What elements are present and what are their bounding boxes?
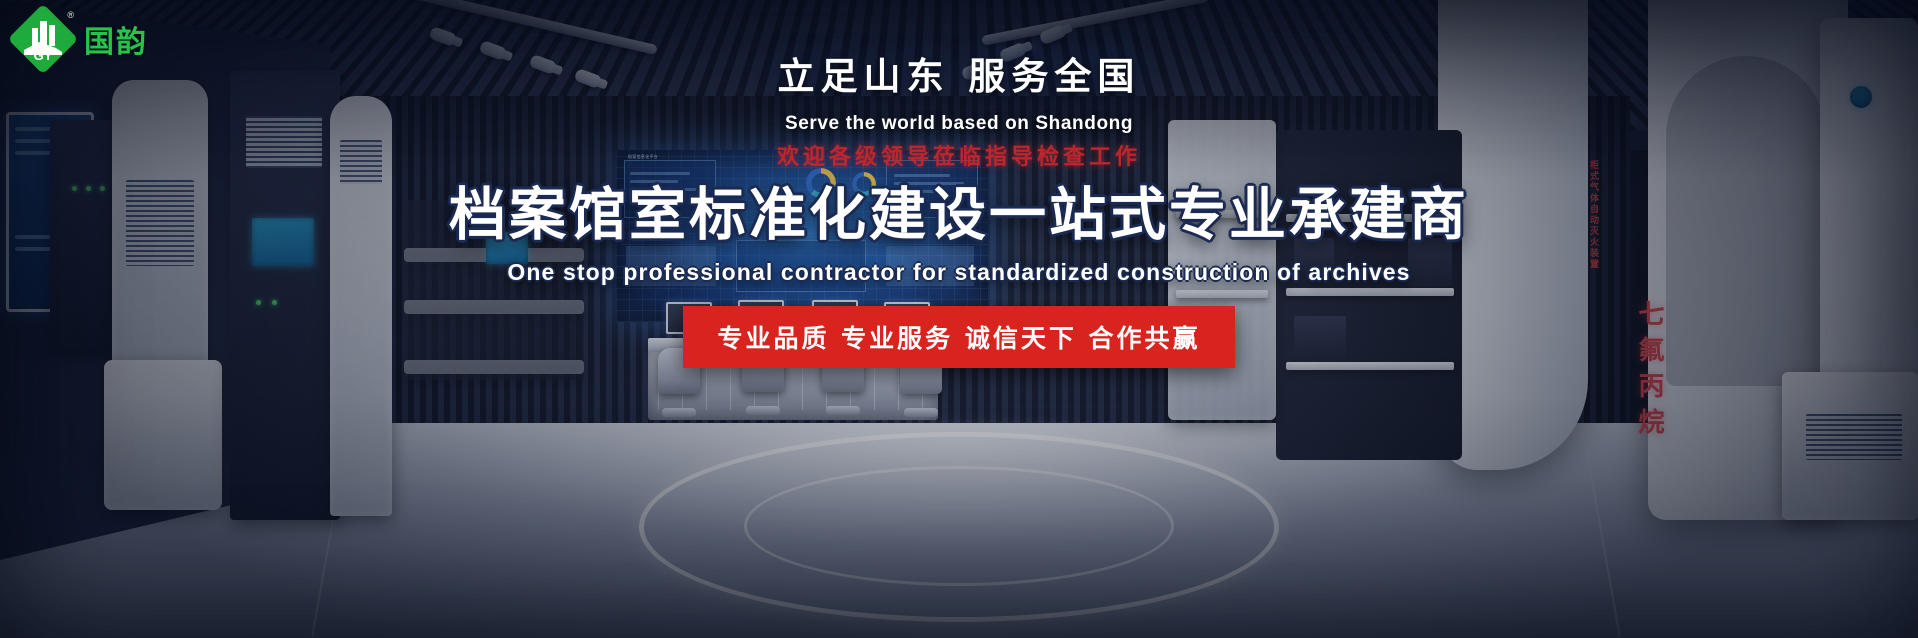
hero-headline-cn: 档案馆室标准化建设一站式专业承建商 [0, 169, 1918, 251]
led-ticker-text: 欢迎各级领导莅临指导检查工作 [0, 139, 1918, 171]
chair-base [662, 408, 696, 417]
brand-logo[interactable]: GY ® 国韵 [12, 8, 148, 70]
hero-banner: 档案信息化平台 [0, 0, 1918, 638]
logo-diamond-icon: GY ® [12, 8, 74, 70]
equipment-cart [104, 360, 222, 510]
brand-name-cn: 国韵 [84, 17, 148, 61]
chair-base [904, 408, 938, 417]
svg-text:GY: GY [34, 48, 53, 63]
hero-eyebrow-cn: 立足山东 服务全国 [0, 46, 1918, 100]
registered-mark: ® [67, 10, 74, 20]
chair-base [826, 406, 860, 415]
vent-grille [1806, 414, 1902, 460]
floor-inlay-ring [744, 466, 1174, 586]
hero-headline-en: One stop professional contractor for sta… [0, 259, 1918, 286]
hero-copy: 立足山东 服务全国 Serve the world based on Shand… [0, 0, 1918, 368]
hero-cta-banner[interactable]: 专业品质 专业服务 诚信天下 合作共赢 [683, 306, 1234, 368]
hero-eyebrow-en: Serve the world based on Shandong [0, 113, 1918, 135]
chair-base [746, 406, 780, 415]
